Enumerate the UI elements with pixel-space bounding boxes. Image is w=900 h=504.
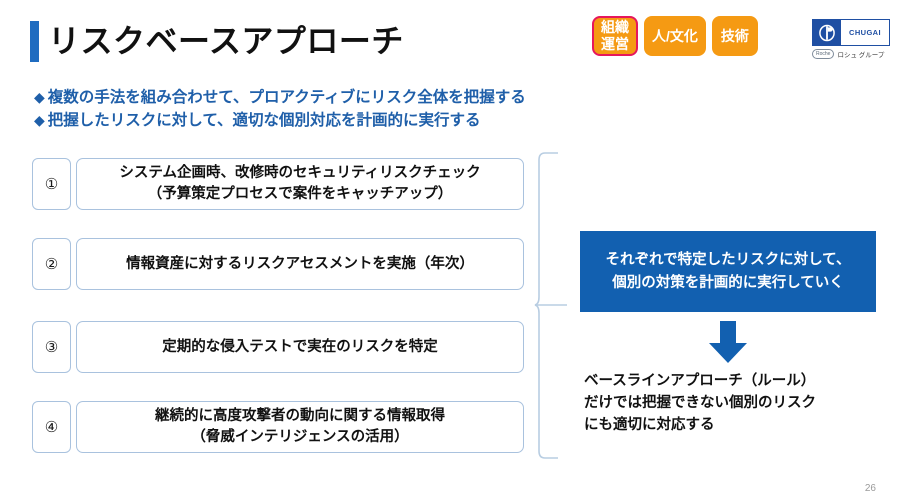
step-text-content: システム企画時、改修時のセキュリティリスクチェック （予算策定プロセスで案件をキ… <box>119 163 480 205</box>
step-text-line: 定期的な侵入テストで実在のリスクを特定 <box>162 337 438 358</box>
badge-line: 技術 <box>720 28 750 45</box>
step-text-line: （脅威インテリジェンスの活用） <box>155 427 445 448</box>
step-row: ④ 継続的に高度攻撃者の動向に関する情報取得 （脅威インテリジェンスの活用） <box>32 401 524 453</box>
title-accent-bar <box>30 21 39 62</box>
logo-sub: Roche ロシュ グループ <box>812 49 890 59</box>
step-text-content: 情報資産に対するリスクアセスメントを実施（年次） <box>126 254 474 275</box>
step-row: ① システム企画時、改修時のセキュリティリスクチェック （予算策定プロセスで案件… <box>32 158 524 210</box>
step-text-box: 継続的に高度攻撃者の動向に関する情報取得 （脅威インテリジェンスの活用） <box>76 401 524 453</box>
conclusion-text-block: ベースラインアプローチ（ルール） だけでは把握できない個別のリスク にも適切に対… <box>584 370 884 436</box>
logo-wordmark: CHUGAI <box>841 20 889 45</box>
roche-mark-icon: Roche <box>812 49 834 59</box>
step-text-box: システム企画時、改修時のセキュリティリスクチェック （予算策定プロセスで案件をキ… <box>76 158 524 210</box>
lead-bullet-item: ◆把握したリスクに対して、適切な個別対応を計画的に実行する <box>34 109 526 132</box>
diamond-bullet-icon: ◆ <box>34 112 45 128</box>
conclusion-line: だけでは把握できない個別のリスク <box>584 392 884 414</box>
step-row: ② 情報資産に対するリスクアセスメントを実施（年次） <box>32 238 524 290</box>
brace-connector-icon <box>534 152 568 459</box>
badge-line: 運営 <box>600 36 630 53</box>
lead-bullet-text: 把握したリスクに対して、適切な個別対応を計画的に実行する <box>48 112 481 129</box>
callout-line: それぞれで特定したリスクに対して、 <box>606 249 851 272</box>
category-badge-group: 組織 運営 人/文化 技術 <box>592 16 758 56</box>
slide-canvas: リスクベースアプローチ 組織 運営 人/文化 技術 CHUGAI Roch <box>0 0 900 504</box>
step-text-box: 定期的な侵入テストで実在のリスクを特定 <box>76 321 524 373</box>
step-row: ③ 定期的な侵入テストで実在のリスクを特定 <box>32 321 524 373</box>
chugai-symbol-icon <box>813 20 841 45</box>
badge-people-culture[interactable]: 人/文化 <box>644 16 706 56</box>
logo-sub-text: ロシュ グループ <box>837 49 884 59</box>
page-number: 26 <box>865 483 876 494</box>
callout-line: 個別の対策を計画的に実行していく <box>612 272 844 295</box>
step-number-badge: ③ <box>32 321 71 373</box>
page-title: リスクベースアプローチ <box>48 19 404 63</box>
down-arrow-icon <box>707 321 749 363</box>
step-text-line: 継続的に高度攻撃者の動向に関する情報取得 <box>155 406 445 427</box>
lead-bullet-text: 複数の手法を組み合わせて、プロアクティブにリスク全体を把握する <box>48 89 526 106</box>
conclusion-line: にも適切に対応する <box>584 414 884 436</box>
corporate-logo: CHUGAI Roche ロシュ グループ <box>812 19 890 59</box>
callout-box: それぞれで特定したリスクに対して、 個別の対策を計画的に実行していく <box>580 231 876 312</box>
lead-bullet-list: ◆複数の手法を組み合わせて、プロアクティブにリスク全体を把握する ◆把握したリス… <box>34 86 526 132</box>
step-text-content: 継続的に高度攻撃者の動向に関する情報取得 （脅威インテリジェンスの活用） <box>155 406 445 448</box>
step-text-line: システム企画時、改修時のセキュリティリスクチェック <box>119 163 480 184</box>
lead-bullet-item: ◆複数の手法を組み合わせて、プロアクティブにリスク全体を把握する <box>34 86 526 109</box>
diamond-bullet-icon: ◆ <box>34 89 45 105</box>
badge-organization-management[interactable]: 組織 運営 <box>592 16 638 56</box>
logo-main: CHUGAI <box>812 19 890 46</box>
step-text-line: （予算策定プロセスで案件をキャッチアップ） <box>119 184 480 205</box>
step-text-content: 定期的な侵入テストで実在のリスクを特定 <box>162 337 438 358</box>
badge-line: 人/文化 <box>652 28 698 45</box>
step-number-badge: ① <box>32 158 71 210</box>
badge-line: 組織 <box>600 19 630 36</box>
step-text-box: 情報資産に対するリスクアセスメントを実施（年次） <box>76 238 524 290</box>
step-number-badge: ④ <box>32 401 71 453</box>
conclusion-line: ベースラインアプローチ（ルール） <box>584 370 884 392</box>
step-text-line: 情報資産に対するリスクアセスメントを実施（年次） <box>126 254 474 275</box>
step-number-badge: ② <box>32 238 71 290</box>
badge-technology[interactable]: 技術 <box>712 16 758 56</box>
